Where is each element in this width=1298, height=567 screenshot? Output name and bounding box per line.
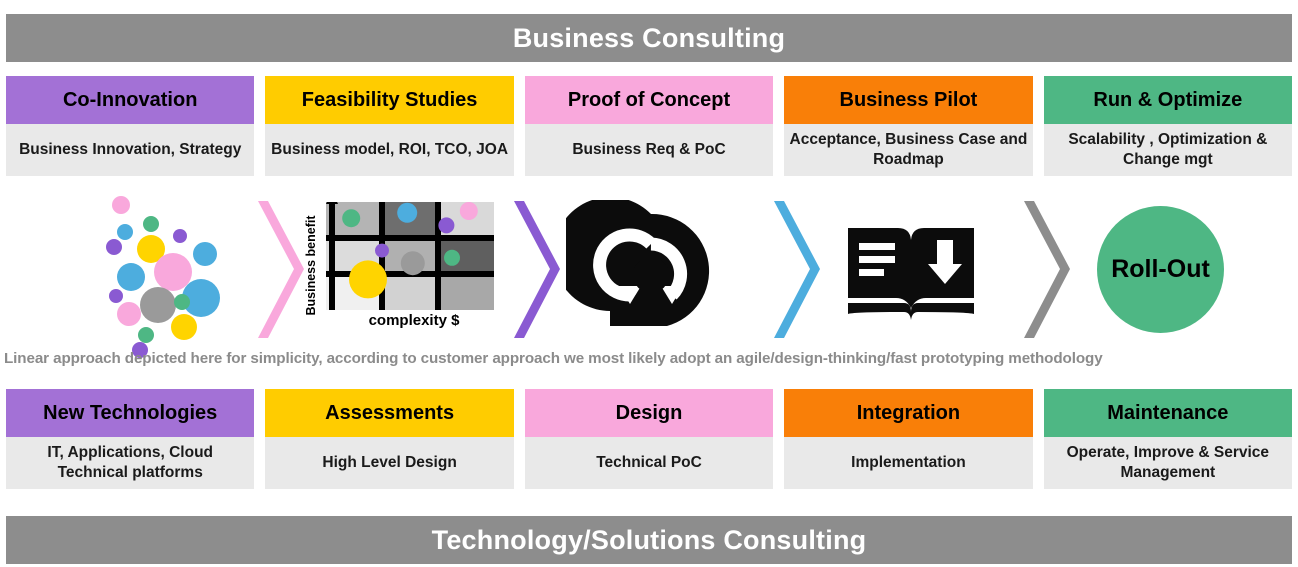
bubble-11 (140, 287, 176, 323)
technology-card-2-description: High Level Design (265, 437, 513, 489)
bubble-13 (174, 294, 190, 310)
business-card-3[interactable]: Proof of ConceptBusiness Req & PoC (525, 76, 773, 176)
matrix-point-1 (342, 209, 360, 227)
roll-out-label: Roll-Out (1111, 255, 1210, 284)
business-benefit-complexity-matrix: Business benefit complexity $ (296, 200, 496, 340)
business-card-1-title: Co-Innovation (6, 76, 254, 124)
technology-card-5[interactable]: MaintenanceOperate, Improve & Service Ma… (1044, 389, 1292, 489)
business-card-3-description: Business Req & PoC (525, 124, 773, 176)
matrix-plot-area (326, 202, 494, 310)
technology-card-1-description: IT, Applications, Cloud Technical platfo… (6, 437, 254, 489)
matrix-y-axis-label: Business benefit (304, 213, 318, 318)
technology-card-5-title: Maintenance (1044, 389, 1292, 437)
matrix-cell-r3-c3 (438, 274, 494, 310)
disclaimer-text: Linear approach depicted here for simpli… (4, 350, 1294, 367)
business-card-4-description: Acceptance, Business Case and Roadmap (784, 124, 1032, 176)
business-card-4[interactable]: Business PilotAcceptance, Business Case … (784, 76, 1032, 176)
matrix-gridline-h1 (326, 235, 494, 241)
matrix-point-4 (438, 217, 454, 233)
business-card-3-title: Proof of Concept (525, 76, 773, 124)
bubble-14 (117, 302, 141, 326)
technology-card-4-description: Implementation (784, 437, 1032, 489)
matrix-point-8 (349, 260, 387, 298)
slide-canvas: Business Consulting Co-InnovationBusines… (0, 0, 1298, 567)
technology-card-3-title: Design (525, 389, 773, 437)
technology-consulting-banner-label: Technology/Solutions Consulting (432, 525, 867, 556)
business-card-5-title: Run & Optimize (1044, 76, 1292, 124)
bubble-16 (138, 327, 154, 343)
process-graphic-band: Business benefit complexity $ (0, 192, 1298, 347)
technology-card-1-title: New Technologies (6, 389, 254, 437)
technology-card-3[interactable]: DesignTechnical PoC (525, 389, 773, 489)
technology-card-5-description: Operate, Improve & Service Management (1044, 437, 1292, 489)
matrix-x-axis-label: complexity $ (334, 312, 494, 329)
technology-track-row: New TechnologiesIT, Applications, Cloud … (6, 389, 1292, 489)
technology-card-2[interactable]: AssessmentsHigh Level Design (265, 389, 513, 489)
business-card-1[interactable]: Co-InnovationBusiness Innovation, Strate… (6, 76, 254, 176)
business-card-5-description: Scalability , Optimization & Change mgt (1044, 124, 1292, 176)
chevron-3-icon (766, 197, 832, 342)
business-card-2-title: Feasibility Studies (265, 76, 513, 124)
matrix-gridline-v2 (435, 202, 441, 310)
bubble-9 (117, 263, 145, 291)
matrix-point-5 (375, 244, 389, 258)
bubble-3 (117, 224, 133, 240)
business-card-1-description: Business Innovation, Strategy (6, 124, 254, 176)
business-card-5[interactable]: Run & OptimizeScalability , Optimization… (1044, 76, 1292, 176)
technology-card-4[interactable]: IntegrationImplementation (784, 389, 1032, 489)
technology-consulting-banner: Technology/Solutions Consulting (6, 516, 1292, 564)
bubble-7 (193, 242, 217, 266)
business-card-2-description: Business model, ROI, TCO, JOA (265, 124, 513, 176)
technology-card-3-description: Technical PoC (525, 437, 773, 489)
bubble-4 (173, 229, 187, 243)
technology-card-1[interactable]: New TechnologiesIT, Applications, Cloud … (6, 389, 254, 489)
chevron-2-icon (506, 197, 572, 342)
matrix-point-2 (397, 203, 417, 223)
bubble-15 (171, 314, 197, 340)
matrix-point-7 (444, 250, 460, 266)
bubble-2 (143, 216, 159, 232)
business-consulting-banner: Business Consulting (6, 14, 1292, 62)
matrix-cell-r3-c2 (382, 274, 438, 310)
matrix-y-arrow (326, 202, 338, 204)
matrix-point-6 (401, 251, 425, 275)
refresh-circle-icon (566, 200, 736, 340)
technology-card-4-title: Integration (784, 389, 1032, 437)
business-card-4-title: Business Pilot (784, 76, 1032, 124)
bubble-10 (109, 289, 123, 303)
business-card-2[interactable]: Feasibility StudiesBusiness model, ROI, … (265, 76, 513, 176)
business-track-row: Co-InnovationBusiness Innovation, Strate… (6, 76, 1292, 176)
chevron-4-icon (1016, 197, 1082, 342)
bubble-1 (112, 196, 130, 214)
idea-bubbles-cluster (88, 192, 248, 347)
roll-out-badge: Roll-Out (1097, 206, 1224, 333)
matrix-point-3 (460, 202, 478, 220)
technology-card-2-title: Assessments (265, 389, 513, 437)
book-download-icon (826, 200, 996, 340)
business-consulting-banner-label: Business Consulting (513, 23, 785, 54)
bubble-5 (106, 239, 122, 255)
